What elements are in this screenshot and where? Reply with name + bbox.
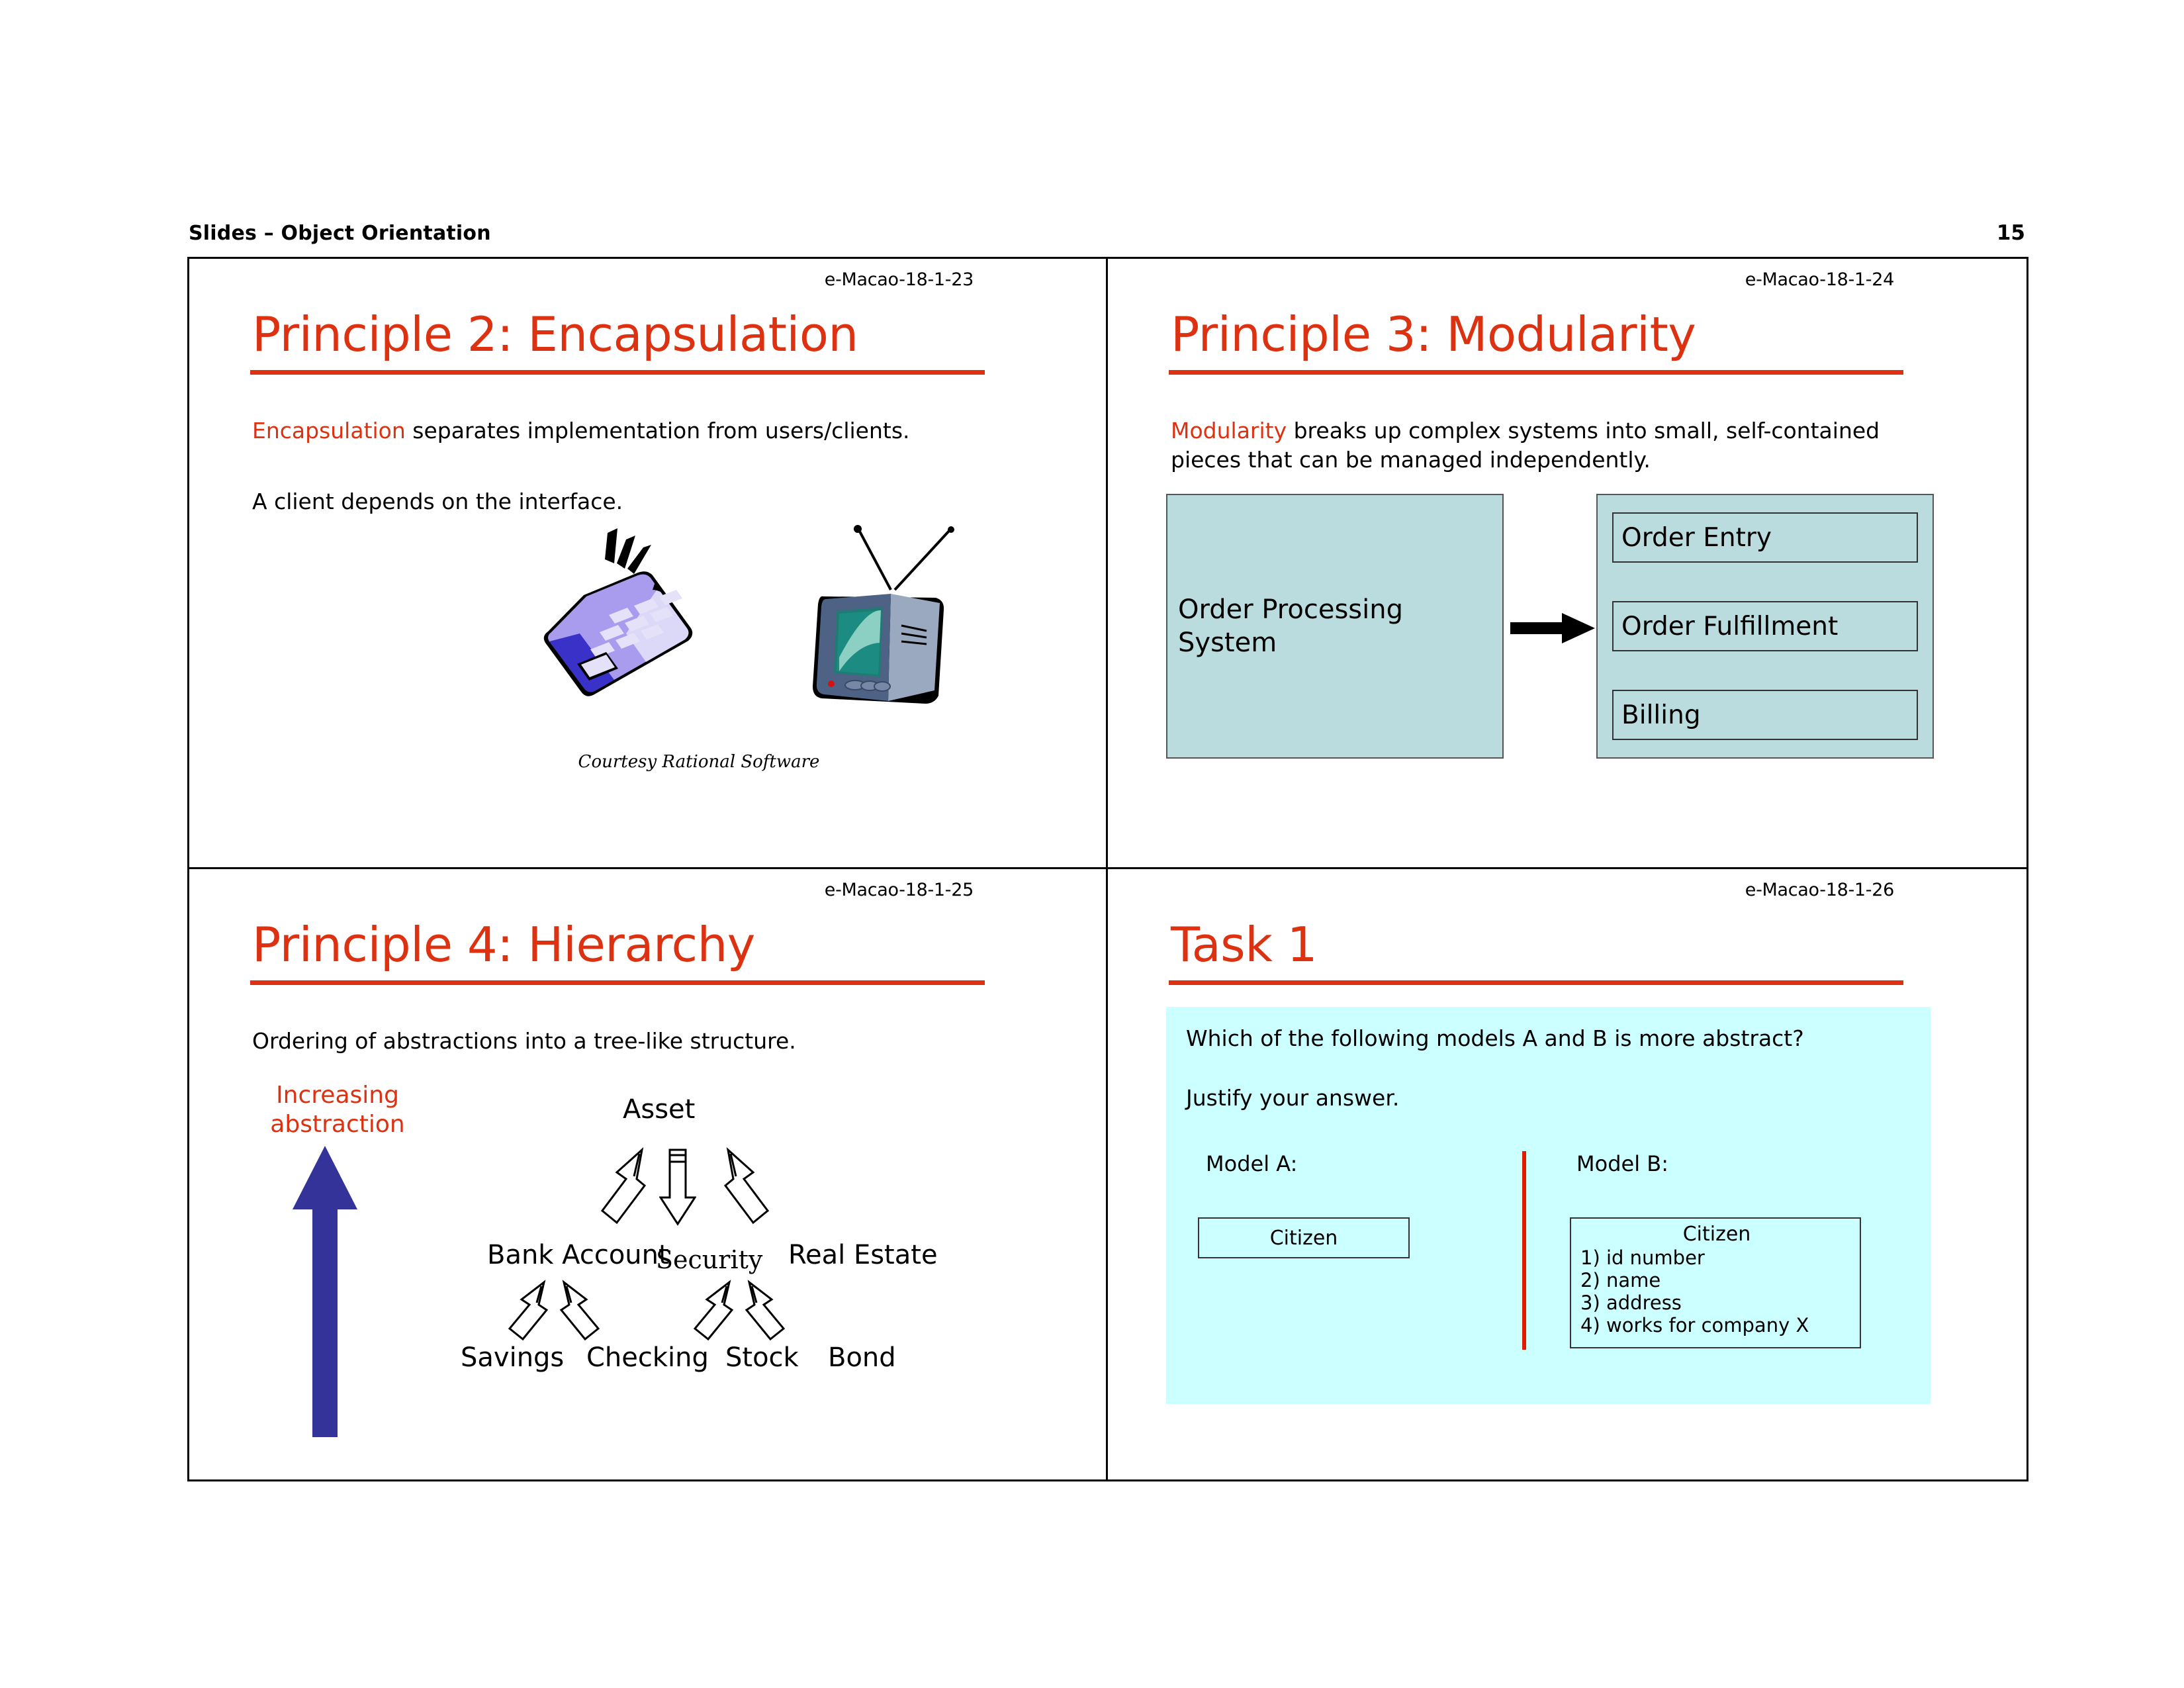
- title-underline-rule: [1169, 370, 1903, 375]
- up-arrow-icon: [289, 1146, 361, 1437]
- model-a-class-name: Citizen: [1270, 1227, 1338, 1250]
- inheritance-arrow-icon: [507, 1280, 548, 1342]
- model-b-class-box[interactable]: Citizen 1) id number 2) name 3) address …: [1570, 1217, 1861, 1348]
- model-b-class-name: Citizen: [1580, 1223, 1853, 1246]
- modules-group-box: Order Entry Order Fulfillment Billing: [1596, 494, 1934, 759]
- slide-modularity[interactable]: e-Macao-18-1-24 Principle 3: Modularity …: [1108, 259, 2026, 869]
- title-underline-rule: [250, 980, 985, 985]
- modularity-keyword: Modularity: [1171, 418, 1287, 444]
- modularity-definition: Modularity breaks up complex systems int…: [1171, 416, 1899, 475]
- model-b-attribute: 3) address: [1580, 1292, 1853, 1315]
- slide-id-label: e-Macao-18-1-25: [825, 880, 974, 900]
- hierarchy-node-savings: Savings: [461, 1342, 564, 1373]
- remote-and-tv-illustration: [520, 510, 1036, 735]
- task-question-panel: Which of the following models A and B is…: [1166, 1007, 1931, 1404]
- page-number: 15: [1997, 221, 2025, 245]
- hierarchy-node-checking: Checking: [586, 1342, 709, 1373]
- slide-heading: Principle 4: Hierarchy: [252, 917, 755, 972]
- hierarchy-node-bank-account: Bank Account: [487, 1240, 669, 1270]
- title-underline-rule: [250, 370, 985, 375]
- slide-hierarchy[interactable]: e-Macao-18-1-25 Principle 4: Hierarchy O…: [189, 869, 1108, 1479]
- slide-task-1[interactable]: e-Macao-18-1-26 Task 1 Which of the foll…: [1108, 869, 2026, 1479]
- hierarchy-diagram: Increasing abstraction Asset Bank Accoun…: [229, 1081, 1056, 1452]
- slide-grid: e-Macao-18-1-23 Principle 2: Encapsulati…: [187, 257, 2028, 1481]
- order-processing-system-box: Order Processing System: [1166, 494, 1504, 759]
- slide-id-label: e-Macao-18-1-24: [1745, 269, 1894, 290]
- module-order-entry[interactable]: Order Entry: [1612, 512, 1918, 563]
- television-set-icon: [813, 525, 954, 704]
- page-header: Slides – Object Orientation 15: [189, 211, 2025, 245]
- inheritance-arrow-icon: [745, 1280, 786, 1342]
- module-order-fulfillment[interactable]: Order Fulfillment: [1612, 601, 1918, 651]
- signal-waves-icon: [605, 528, 651, 574]
- slide-heading: Task 1: [1171, 917, 1317, 972]
- slide-encapsulation[interactable]: e-Macao-18-1-23 Principle 2: Encapsulati…: [189, 259, 1108, 869]
- slide-heading: Principle 2: Encapsulation: [252, 306, 858, 362]
- encapsulation-definition-rest: separates implementation from users/clie…: [406, 418, 910, 444]
- slide-id-label: e-Macao-18-1-23: [825, 269, 974, 290]
- model-a-label: Model A:: [1206, 1151, 1297, 1176]
- inheritance-arrow-icon: [560, 1280, 601, 1342]
- model-divider-line: [1522, 1151, 1526, 1350]
- task-instruction-text: Justify your answer.: [1186, 1085, 1399, 1111]
- right-arrow-icon: [1510, 613, 1596, 643]
- inheritance-arrow-icon: [724, 1147, 770, 1227]
- model-b-attribute: 1) id number: [1580, 1247, 1853, 1270]
- model-a-class-box[interactable]: Citizen: [1198, 1217, 1410, 1258]
- inheritance-arrow-icon: [600, 1147, 646, 1227]
- order-processing-system-label: Order Processing System: [1178, 593, 1502, 660]
- slide-heading: Principle 3: Modularity: [1171, 306, 1696, 362]
- encapsulation-definition: Encapsulation separates implementation f…: [252, 416, 1013, 445]
- title-underline-rule: [1169, 980, 1903, 985]
- hierarchy-node-bond: Bond: [828, 1342, 896, 1373]
- hierarchy-node-stock: Stock: [725, 1342, 799, 1373]
- inheritance-arrow-icon: [692, 1280, 733, 1342]
- inheritance-arrow-icon: [659, 1147, 696, 1227]
- module-billing[interactable]: Billing: [1612, 690, 1918, 740]
- courtesy-caption: Courtesy Rational Software: [434, 752, 964, 772]
- hierarchy-definition: Ordering of abstractions into a tree-lik…: [252, 1027, 1013, 1056]
- page-title: Slides – Object Orientation: [189, 222, 491, 245]
- increasing-abstraction-label: Increasing abstraction: [258, 1081, 417, 1139]
- hierarchy-node-real-estate: Real Estate: [788, 1240, 938, 1270]
- hierarchy-node-security: Security: [656, 1245, 762, 1274]
- task-question-text: Which of the following models A and B is…: [1186, 1025, 1804, 1051]
- modularity-diagram: Order Processing System Order Entry Orde…: [1166, 494, 1934, 759]
- tv-remote-control-icon: [544, 571, 693, 696]
- slide-id-label: e-Macao-18-1-26: [1745, 880, 1894, 900]
- model-b-attribute: 2) name: [1580, 1270, 1853, 1292]
- encapsulation-keyword: Encapsulation: [252, 418, 406, 444]
- model-b-attribute: 4) works for company X: [1580, 1315, 1853, 1337]
- hierarchy-node-asset: Asset: [623, 1094, 695, 1125]
- model-b-label: Model B:: [1576, 1151, 1668, 1176]
